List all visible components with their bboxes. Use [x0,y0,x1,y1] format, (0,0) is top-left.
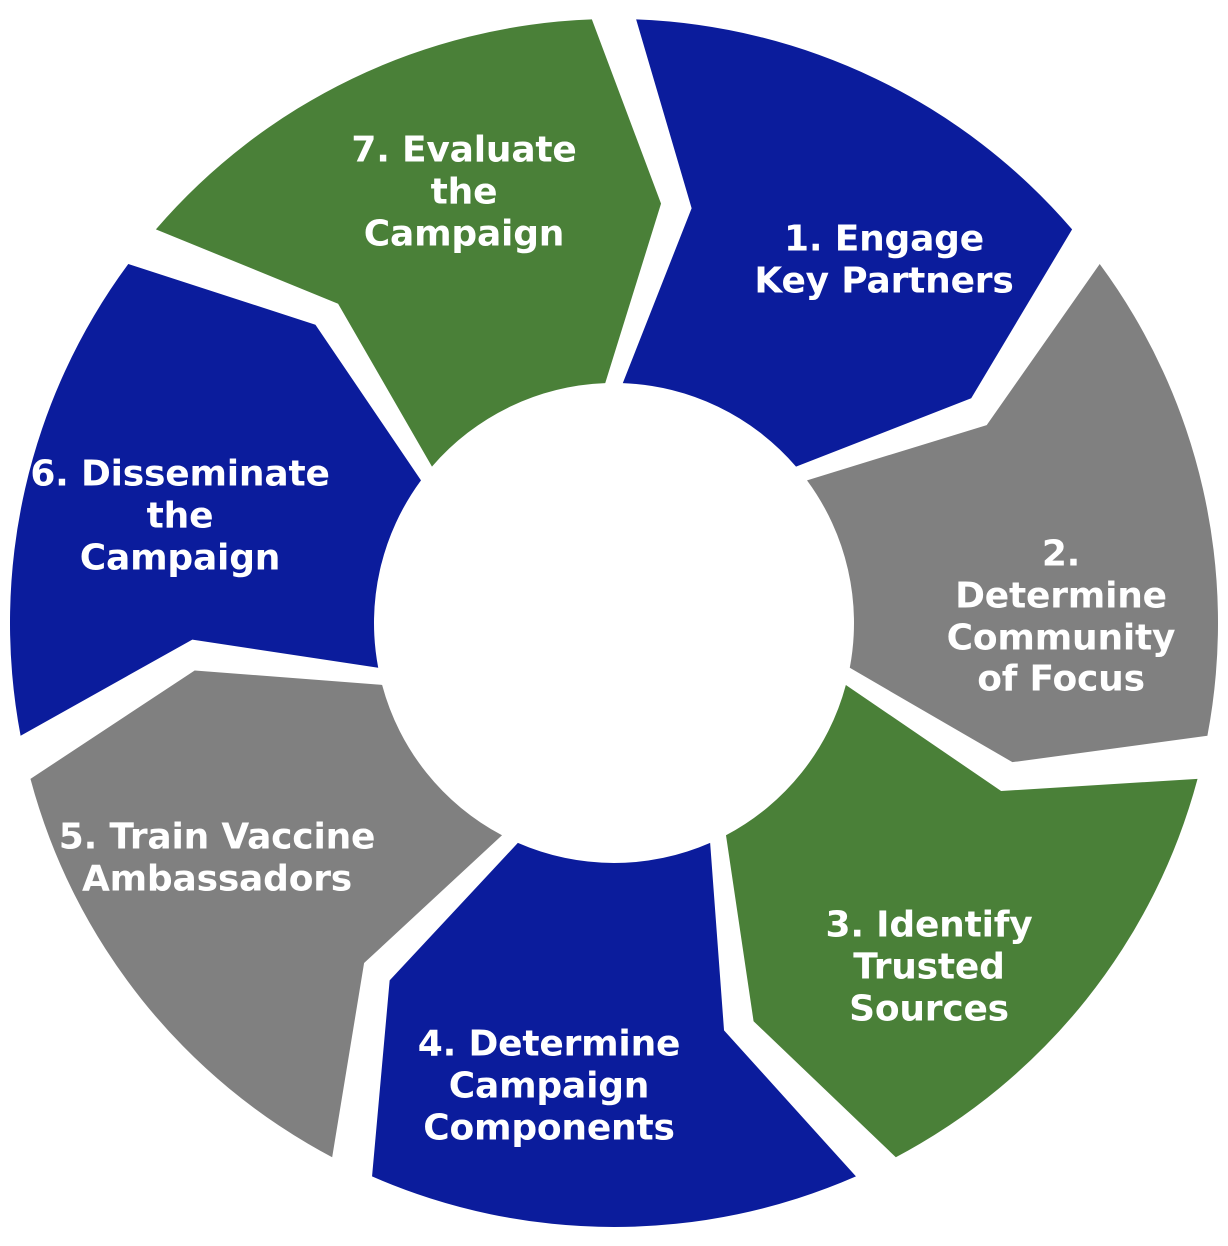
segments-group [10,19,1218,1227]
process-cycle-ring [0,0,1228,1246]
circular-process-diagram: 1. Engage Key Partners2. Determine Commu… [0,0,1228,1246]
process-step-segment-3[interactable] [726,685,1198,1157]
